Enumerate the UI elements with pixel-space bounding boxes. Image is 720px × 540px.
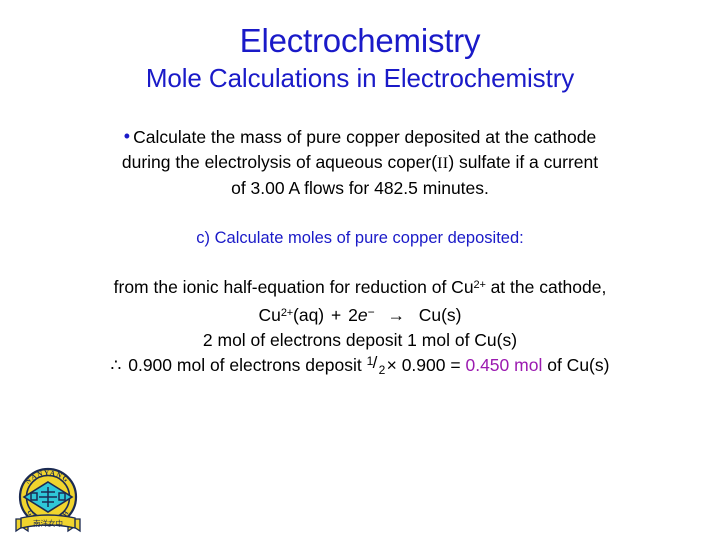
working-line-1: from the ionic half-equation for reducti… bbox=[38, 273, 682, 300]
equation-plus-sign: + bbox=[331, 305, 341, 325]
slide: Electrochemistry Mole Calculations in El… bbox=[0, 0, 720, 540]
question-line-1: •Calculate the mass of pure copper depos… bbox=[38, 124, 682, 150]
equation-state-aq: (aq) bbox=[293, 305, 324, 325]
working-line-1-post: at the cathode, bbox=[486, 277, 607, 297]
equation-arrow-icon: → bbox=[387, 305, 405, 325]
equation-cu-charge-superscript: 2+ bbox=[281, 307, 293, 319]
equation-species-cu: Cu bbox=[258, 305, 280, 325]
equation-electron-coefficient: 2 bbox=[348, 305, 358, 325]
working-line-4-post: of Cu(s) bbox=[547, 355, 609, 375]
question-line-1-text: Calculate the mass of pure copper deposi… bbox=[133, 127, 596, 147]
working-line-3: 2 mol of electrons deposit 1 mol of Cu(s… bbox=[38, 328, 682, 353]
question-line-2-part1: during the electrolysis of aqueous coper… bbox=[122, 152, 437, 172]
answer-value: 0.450 mol bbox=[465, 355, 542, 375]
question-block: •Calculate the mass of pure copper depos… bbox=[38, 124, 682, 201]
question-line-2-part2: ) sulfate if a current bbox=[448, 152, 598, 172]
part-c-heading: c) Calculate moles of pure copper deposi… bbox=[38, 227, 682, 249]
working-line-4-value: 0.900 bbox=[402, 355, 446, 375]
therefore-icon: ∴ bbox=[111, 356, 124, 375]
half-equation: Cu2+(aq) + 2e− → Cu(s) bbox=[38, 300, 682, 328]
school-crest-logo: NANYANG GIRLS' HIGH 南洋女中 bbox=[8, 461, 88, 535]
title-block: Electrochemistry Mole Calculations in El… bbox=[0, 22, 720, 94]
equation-electron-charge-superscript: − bbox=[368, 305, 375, 319]
fraction-bar: / bbox=[373, 350, 378, 375]
page-title: Electrochemistry bbox=[0, 22, 720, 60]
bullet-icon: • bbox=[124, 126, 133, 146]
question-line-2: during the electrolysis of aqueous coper… bbox=[38, 150, 682, 176]
fraction-one-half: 1/2 bbox=[367, 353, 387, 373]
equals-sign: = bbox=[450, 355, 460, 375]
fraction-denominator: 2 bbox=[379, 358, 386, 383]
working-block: from the ionic half-equation for reducti… bbox=[38, 273, 682, 378]
equation-electron-symbol: e bbox=[358, 305, 368, 325]
slide-body: •Calculate the mass of pure copper depos… bbox=[38, 124, 682, 378]
working-line-1-pre: from the ionic half-equation for reducti… bbox=[114, 277, 474, 297]
roman-numeral-two: II bbox=[437, 155, 448, 172]
multiplication-sign: × bbox=[387, 355, 397, 375]
working-line-4-pre: 0.900 mol of electrons deposit bbox=[128, 355, 361, 375]
working-line-4: ∴ 0.900 mol of electrons deposit 1/2× 0.… bbox=[38, 353, 682, 378]
question-line-3: of 3.00 A flows for 482.5 minutes. bbox=[38, 176, 682, 201]
equation-product: Cu(s) bbox=[419, 305, 462, 325]
cu-charge-superscript: 2+ bbox=[474, 279, 486, 291]
crest-banner-text: 南洋女中 bbox=[33, 518, 63, 528]
page-subtitle: Mole Calculations in Electrochemistry bbox=[0, 62, 720, 94]
